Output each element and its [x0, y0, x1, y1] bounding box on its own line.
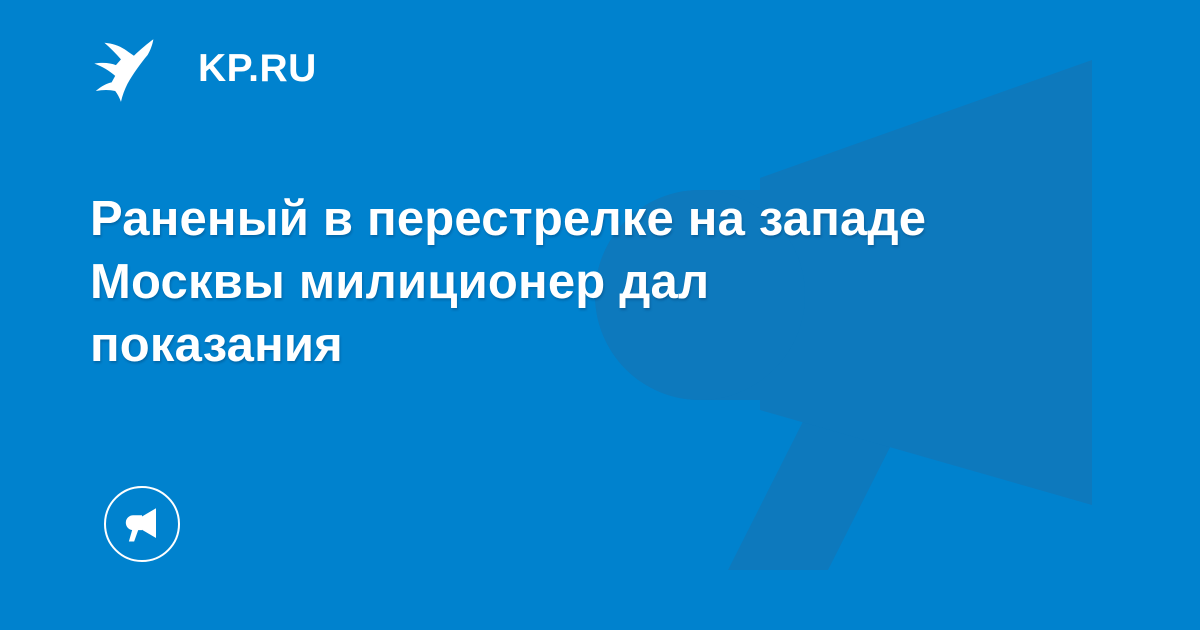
headline-line-2: Москвы милиционер дал — [90, 251, 1090, 314]
page-title: Раненый в перестрелке на западе Москвы м… — [90, 188, 1090, 377]
megaphone-icon — [121, 503, 163, 545]
headline-line-3: показания — [90, 314, 1090, 377]
brand-logo[interactable]: KP.RU — [90, 32, 317, 104]
headline-line-1: Раненый в перестрелке на западе — [90, 188, 1090, 251]
swallow-bird-icon — [90, 32, 162, 104]
brand-name: KP.RU — [198, 49, 317, 88]
share-card: KP.RU Раненый в перестрелке на западе Мо… — [0, 0, 1200, 630]
megaphone-badge[interactable] — [104, 486, 180, 562]
